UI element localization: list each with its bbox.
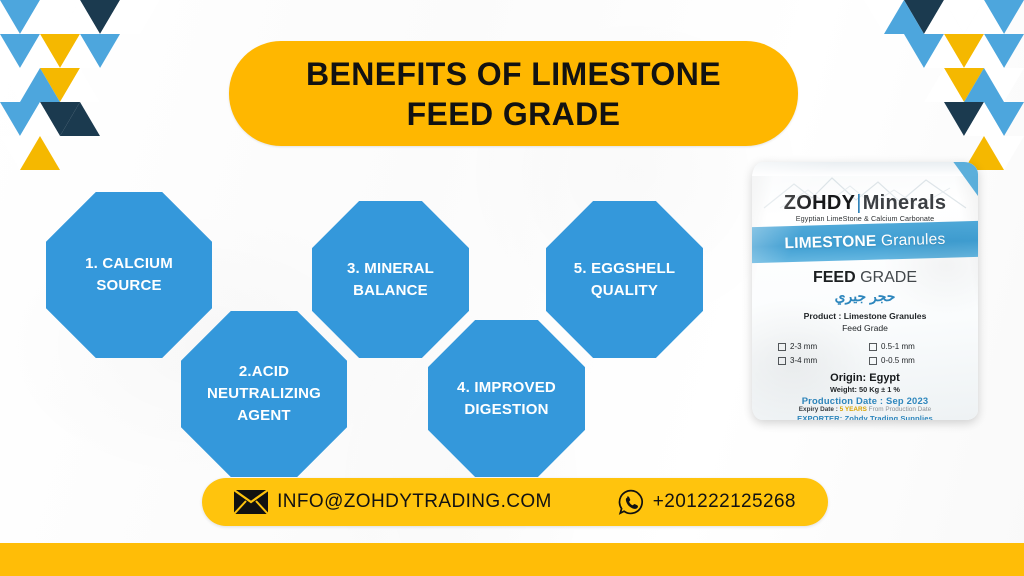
page-title-line2: FEED GRADE <box>306 94 721 134</box>
bag-weight: Weight: 50 Kg ± 1 % <box>752 385 978 394</box>
title-banner: BENEFITS OF LIMESTONE FEED GRADE <box>229 41 798 146</box>
checkbox-icon <box>778 357 786 365</box>
checkbox-icon <box>778 343 786 351</box>
page-title: BENEFITS OF LIMESTONE FEED GRADE <box>288 54 739 134</box>
envelope-icon <box>234 490 268 514</box>
bag-size-label: 3-4 mm <box>790 356 817 365</box>
bag-size-options: 2-3 mm 0.5-1 mm 3-4 mm 0-0.5 mm <box>778 342 960 365</box>
triangle-pattern-top-left <box>0 0 180 170</box>
product-bag-image: ZOHDY|Minerals Egyptian LimeStone & Calc… <box>752 162 978 420</box>
bag-grade-light: GRADE <box>856 269 917 286</box>
contact-phone-label: +201222125268 <box>653 491 796 513</box>
bag-grade-arabic: حجر جيري <box>752 288 978 305</box>
bag-production-date: Production Date : Sep 2023 <box>752 395 978 406</box>
contact-bar: INFO@ZOHDYTRADING.COM +201222125268 <box>202 478 828 526</box>
bag-band-bold: LIMESTONE <box>784 233 876 253</box>
bag-expiry-value: 5 YEARS <box>840 406 867 413</box>
bag-brand-separator: | <box>856 192 862 214</box>
contact-email[interactable]: INFO@ZOHDYTRADING.COM <box>234 490 552 514</box>
bag-product-band: LIMESTONE Granules <box>752 221 978 264</box>
checkbox-icon <box>869 343 877 351</box>
bag-feed-grade: FEED GRADE <box>752 269 978 287</box>
benefit-improved-digestion-label: 4. IMPROVED DIGESTION <box>428 377 585 421</box>
benefit-mineral-balance-label: 3. MINERAL BALANCE <box>312 258 469 302</box>
bag-size-option: 2-3 mm <box>778 342 869 351</box>
infographic-canvas: BENEFITS OF LIMESTONE FEED GRADE 1. CALC… <box>0 0 1024 576</box>
bag-expiry: Expiry Date : 5 YEARS From Production Da… <box>752 406 978 413</box>
triangle-pattern-top-right <box>844 0 1024 170</box>
bag-origin: Origin: Egypt <box>752 372 978 384</box>
bag-size-option: 0-0.5 mm <box>869 356 960 365</box>
bag-brand-logo: ZOHDY|Minerals <box>752 192 978 215</box>
bag-brand-primary: ZOHDY <box>784 192 856 214</box>
bag-size-label: 0-0.5 mm <box>881 356 915 365</box>
phone-circle-icon <box>618 489 644 515</box>
benefit-calcium-source-label: 1. CALCIUM SOURCE <box>46 253 212 297</box>
page-title-line1: BENEFITS OF LIMESTONE <box>306 54 721 94</box>
bag-grade-bold: FEED <box>813 269 856 286</box>
bottom-accent-bar <box>0 543 1024 576</box>
bag-brand-secondary: Minerals <box>863 192 947 214</box>
bag-size-option: 3-4 mm <box>778 356 869 365</box>
benefit-acid-neutralizing-agent-label: 2.ACID NEUTRALIZING AGENT <box>181 361 347 426</box>
bag-expiry-note: From Production Date <box>869 406 932 413</box>
bag-exporter: EXPORTER: Zohdy Trading Supplies <box>752 414 978 420</box>
bag-size-label: 2-3 mm <box>790 342 817 351</box>
checkbox-icon <box>869 357 877 365</box>
benefit-eggshell-quality-label: 5. EGGSHELL QUALITY <box>546 258 703 302</box>
bag-size-option: 0.5-1 mm <box>869 342 960 351</box>
bag-expiry-label: Expiry Date : <box>799 406 838 413</box>
bag-product-line: Product : Limestone Granules <box>752 310 978 322</box>
bag-product-sub: Feed Grade <box>752 322 978 334</box>
contact-phone[interactable]: +201222125268 <box>618 489 796 515</box>
bag-band-light: Granules <box>876 231 945 250</box>
contact-email-label: INFO@ZOHDYTRADING.COM <box>277 491 552 513</box>
bag-size-label: 0.5-1 mm <box>881 342 915 351</box>
bag-product-description: Product : Limestone Granules Feed Grade <box>752 310 978 335</box>
